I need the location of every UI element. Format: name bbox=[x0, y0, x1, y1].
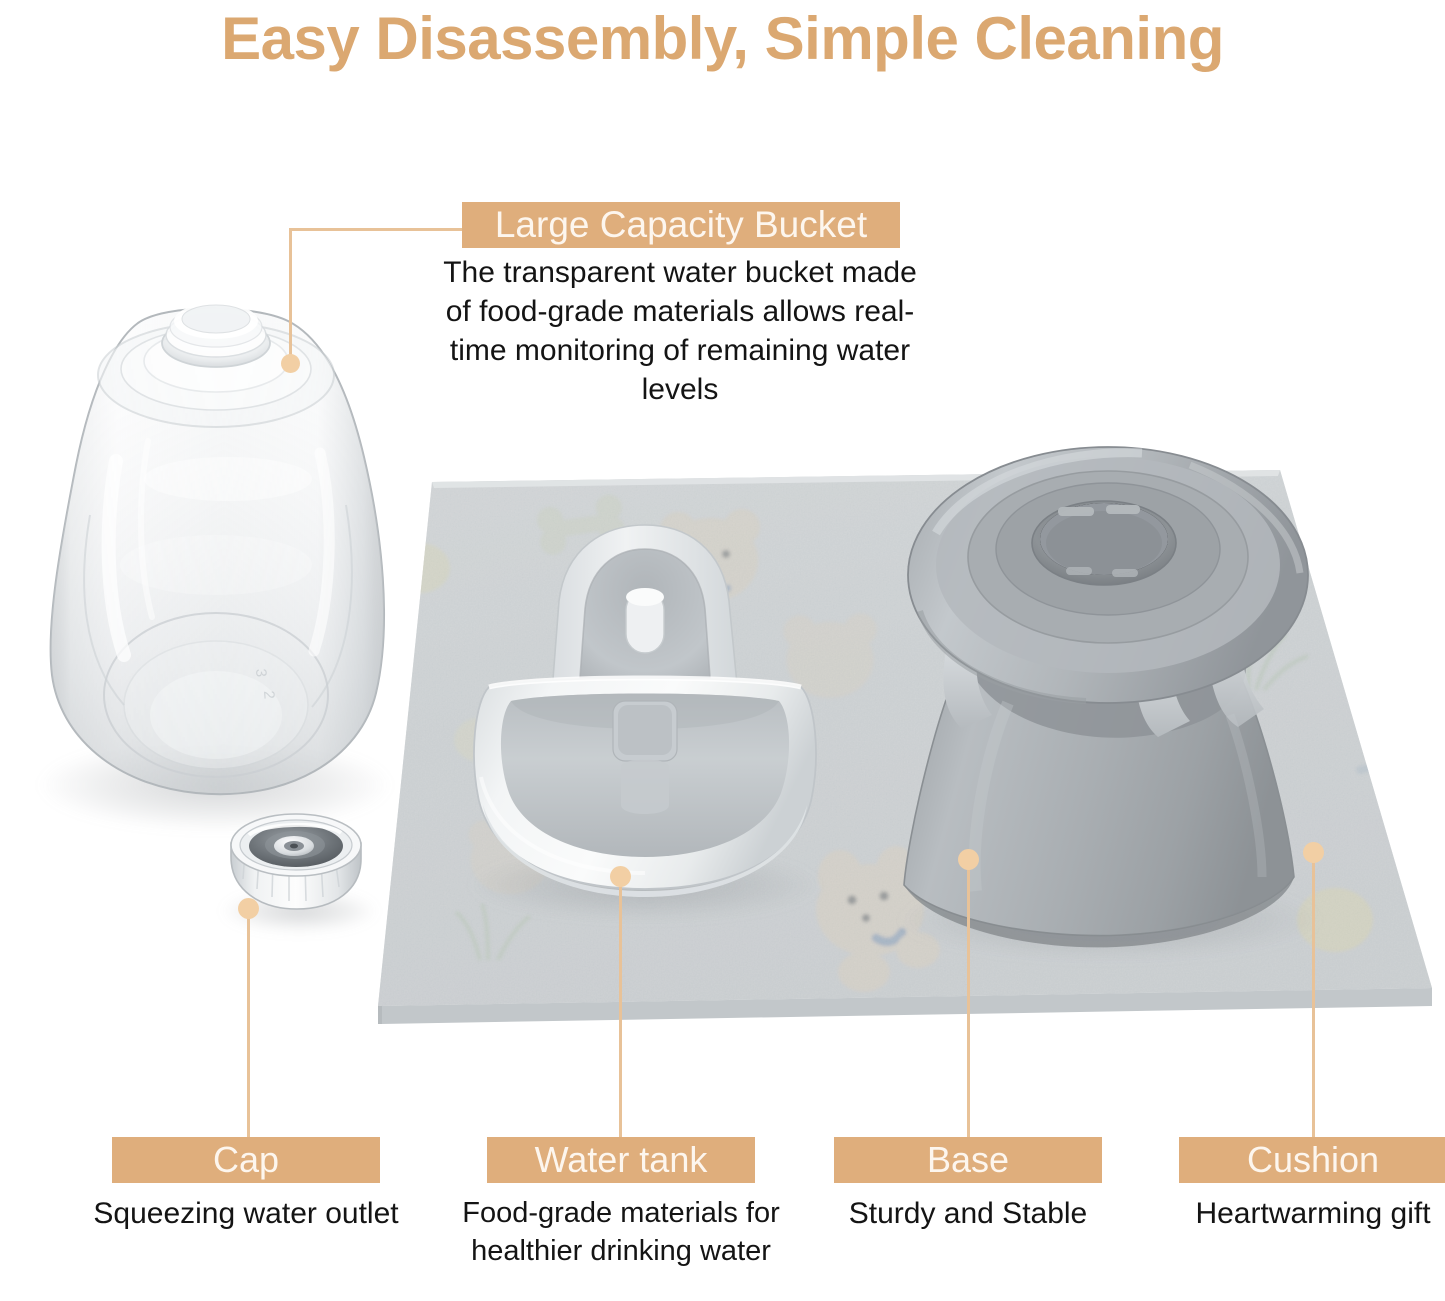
base-unit bbox=[890, 415, 1320, 955]
transparent-water-bucket: 3 2 bbox=[20, 265, 420, 810]
callout-chip-cap[interactable]: Cap bbox=[112, 1137, 380, 1183]
callout-desc-water-tank: Food-grade materials for healthier drink… bbox=[452, 1194, 790, 1270]
base-marker-dot bbox=[958, 849, 979, 870]
cushion-marker-dot bbox=[1303, 842, 1324, 863]
water-tank-marker-dot bbox=[610, 866, 631, 887]
callout-desc-bucket: The transparent water bucket made of foo… bbox=[440, 253, 920, 409]
callout-desc-cushion: Heartwarming gift bbox=[1145, 1194, 1445, 1233]
svg-text:3: 3 bbox=[252, 668, 270, 678]
water-tank-bowl bbox=[455, 505, 835, 925]
svg-text:2: 2 bbox=[260, 690, 278, 700]
page-title: Easy Disassembly, Simple Cleaning bbox=[0, 2, 1445, 76]
cap-leader-line bbox=[247, 908, 250, 1138]
bucket-leader-vertical bbox=[289, 228, 292, 360]
bucket-leader-horizontal bbox=[289, 228, 464, 231]
water-tank-leader-line bbox=[619, 876, 622, 1138]
base-leader-line bbox=[967, 859, 970, 1138]
callout-chip-bucket[interactable]: Large Capacity Bucket bbox=[462, 202, 900, 248]
callout-desc-cap: Squeezing water outlet bbox=[62, 1194, 430, 1233]
infographic-canvas: Easy Disassembly, Simple Cleaning bbox=[0, 0, 1445, 1301]
callout-chip-cushion[interactable]: Cushion bbox=[1179, 1137, 1445, 1183]
callout-chip-base[interactable]: Base bbox=[834, 1137, 1102, 1183]
squeeze-cap bbox=[215, 805, 375, 935]
bucket-marker-dot bbox=[281, 354, 300, 373]
callout-chip-water-tank[interactable]: Water tank bbox=[487, 1137, 755, 1183]
callout-desc-base: Sturdy and Stable bbox=[800, 1194, 1136, 1233]
cushion-leader-line bbox=[1312, 852, 1315, 1138]
cap-marker-dot bbox=[238, 898, 259, 919]
